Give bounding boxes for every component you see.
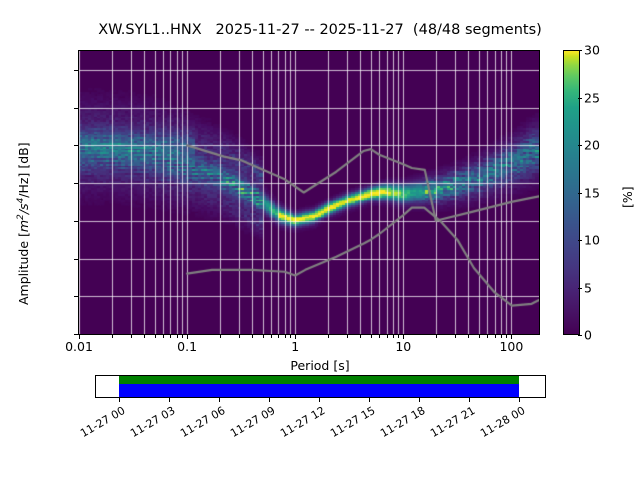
timeline-tick-mark (269, 398, 270, 402)
timeline-tick-mark (219, 398, 220, 402)
timeline-tick-mark (319, 398, 320, 402)
timeline-tick-label: 11-27 06 (174, 404, 227, 442)
timeline-tick-mark (519, 398, 520, 402)
timeline-ticks: 11-27 0011-27 0311-27 0611-27 0911-27 12… (0, 0, 640, 480)
timeline-tick-label: 11-27 21 (424, 404, 477, 442)
timeline-tick-label: 11-27 12 (274, 404, 327, 442)
timeline-tick-mark (469, 398, 470, 402)
timeline-tick-label: 11-27 18 (374, 404, 427, 442)
timeline-tick-label: 11-27 03 (124, 404, 177, 442)
timeline-tick-label: 11-27 15 (324, 404, 377, 442)
timeline-tick-mark (119, 398, 120, 402)
timeline-tick-mark (169, 398, 170, 402)
timeline-tick-mark (419, 398, 420, 402)
timeline-tick-label: 11-27 09 (224, 404, 277, 442)
timeline-tick-mark (369, 398, 370, 402)
timeline-tick-label: 11-28 00 (474, 404, 527, 442)
timeline-tick-label: 11-27 00 (74, 404, 127, 442)
